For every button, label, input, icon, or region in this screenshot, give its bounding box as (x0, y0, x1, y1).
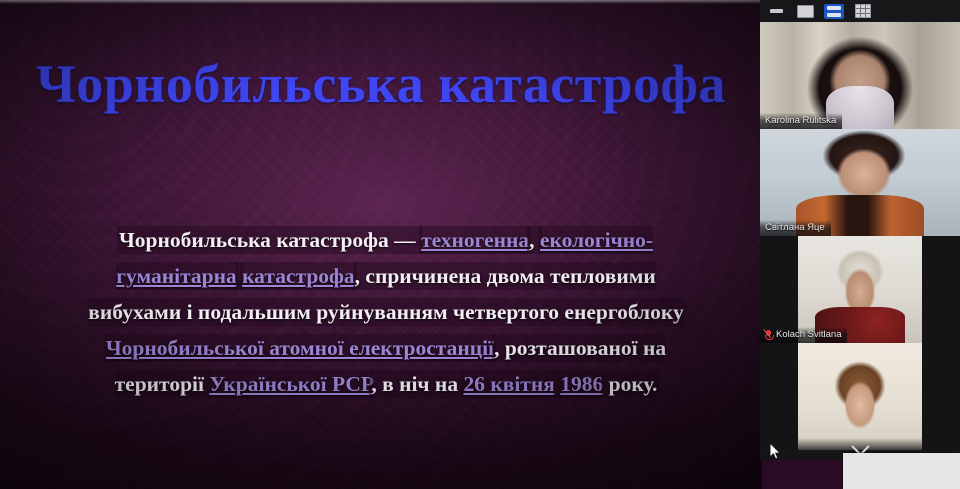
body-segment-0: Чорнобильська катастрофа — (119, 228, 421, 252)
participant-tile[interactable]: Kolach Svitlana (760, 236, 960, 343)
body-segment-14: року. (603, 372, 657, 396)
minimize-icon[interactable] (766, 4, 786, 19)
microphone-muted-icon (765, 330, 772, 340)
body-link-catastrophe[interactable]: катастрофа (242, 264, 355, 288)
participant-tile[interactable] (760, 343, 960, 450)
single-view-icon[interactable] (795, 4, 815, 19)
participant-name-badge: Karolina Rulitska (760, 113, 842, 129)
participant-tile[interactable]: Karolina Rulitska (760, 22, 960, 129)
letterbox-right (922, 236, 960, 343)
screen-capture: Чорнобильська катастрофа Чорнобильська к… (0, 0, 960, 489)
participant-tile-strip[interactable]: Karolina Rulitska Світлана Яце (760, 22, 960, 460)
presentation-slide: Чорнобильська катастрофа Чорнобильська к… (0, 0, 762, 489)
letterbox-left (760, 343, 798, 450)
slide-title: Чорнобильська катастрофа (0, 48, 762, 121)
participant-name-badge: Kolach Svitlana (760, 327, 847, 343)
body-link-technogenic[interactable]: техногенна (421, 228, 529, 252)
body-link-1986[interactable]: 1986 (560, 372, 603, 396)
participant-video (760, 343, 960, 450)
participant-name-label: Kolach Svitlana (776, 329, 841, 340)
speaker-view-icon[interactable] (824, 4, 844, 19)
participant-tile[interactable]: Світлана Яце (760, 129, 960, 236)
participant-name-label: Karolina Rulitska (765, 115, 836, 126)
body-link-april-26[interactable]: 26 квітня (463, 372, 554, 396)
gallery-view-icon[interactable] (853, 4, 873, 19)
slide-body-text: Чорнобильська катастрофа — техногенна, е… (72, 222, 700, 402)
desktop-background-strip (762, 460, 843, 489)
video-panel-toolbar (760, 0, 960, 22)
participant-name-label: Світлана Яце (765, 222, 825, 233)
letterbox-right (922, 343, 960, 450)
video-conference-panel: Karolina Rulitska Світлана Яце (760, 0, 960, 460)
body-link-ukrainian-ssr[interactable]: Української РСР (209, 372, 371, 396)
body-link-chernobyl-npp[interactable]: Чорнобильської атомної електростанції (106, 336, 494, 360)
participant-name-badge: Світлана Яце (760, 220, 831, 236)
slide-top-border (0, 0, 762, 4)
body-segment-10: , в ніч на (371, 372, 463, 396)
background-window[interactable] (843, 453, 960, 489)
body-segment-2: , (529, 228, 540, 252)
mouse-cursor (770, 443, 782, 461)
